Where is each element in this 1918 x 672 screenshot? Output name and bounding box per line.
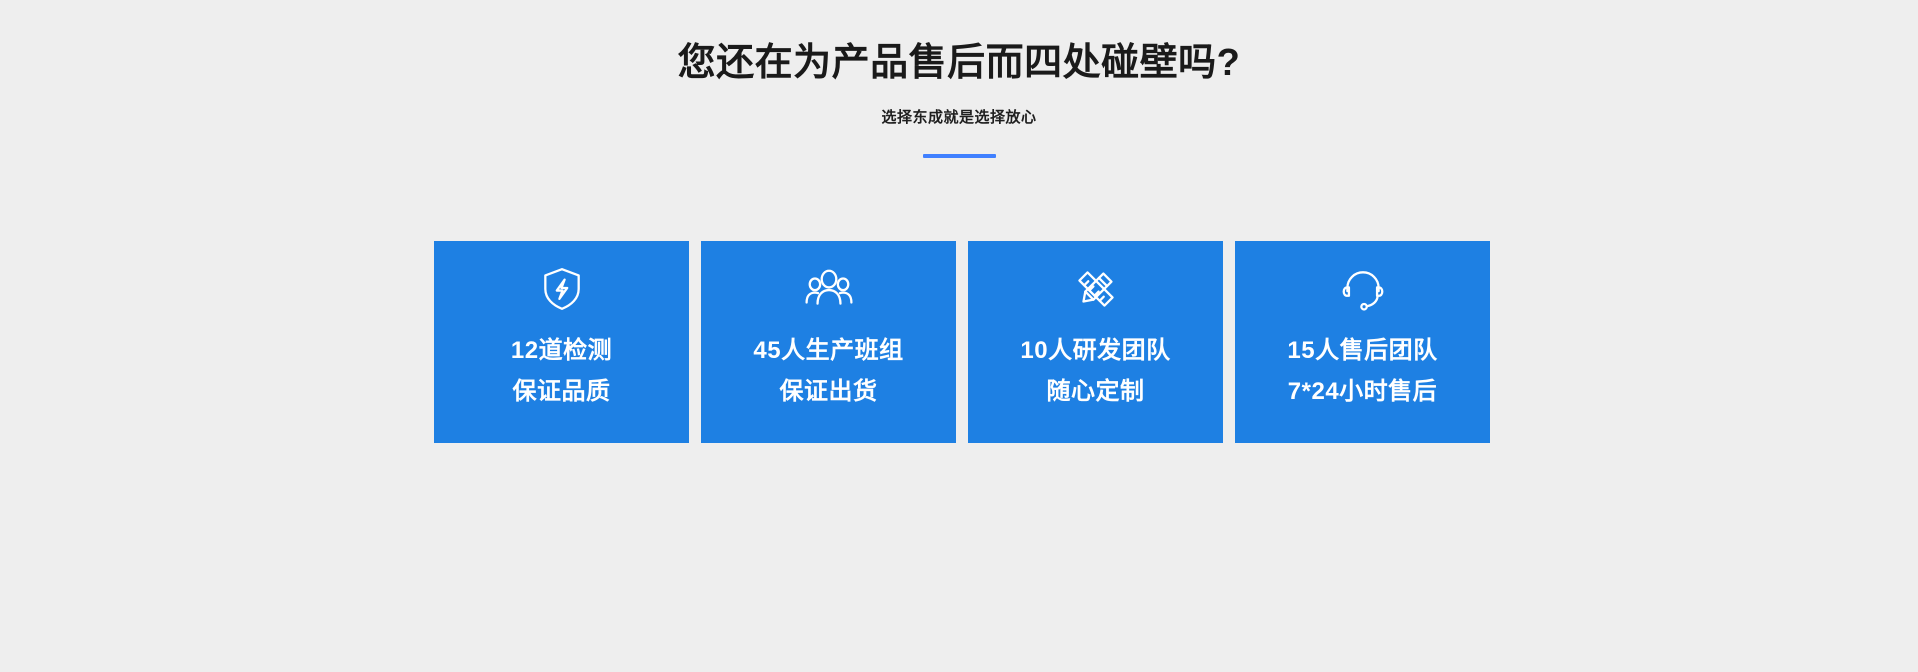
- page-title: 您还在为产品售后而四处碰壁吗?: [0, 0, 1918, 88]
- feature-card-line-2: 保证出货: [753, 374, 903, 410]
- feature-card-line-1: 45人生产班组: [753, 333, 903, 369]
- feature-card-support[interactable]: 15人售后团队 7*24小时售后: [1235, 241, 1490, 443]
- feature-card-text: 45人生产班组 保证出货: [753, 333, 903, 410]
- feature-card-text: 10人研发团队 随心定制: [1020, 333, 1170, 410]
- divider-wrapper: [0, 128, 1918, 158]
- people-group-icon: [801, 261, 857, 317]
- pencil-ruler-icon: [1068, 261, 1124, 317]
- feature-card-line-1: 10人研发团队: [1020, 333, 1170, 369]
- feature-card-text: 15人售后团队 7*24小时售后: [1287, 333, 1437, 410]
- promo-section: 您还在为产品售后而四处碰壁吗? 选择东成就是选择放心 12道检测 保证品质: [0, 0, 1918, 672]
- feature-card-line-1: 12道检测: [511, 333, 612, 369]
- page-subtitle: 选择东成就是选择放心: [0, 88, 1918, 128]
- shield-bolt-icon: [534, 261, 590, 317]
- feature-card-quality[interactable]: 12道检测 保证品质: [434, 241, 689, 443]
- feature-card-text: 12道检测 保证品质: [511, 333, 612, 410]
- feature-card-line-2: 7*24小时售后: [1287, 374, 1437, 410]
- headset-icon: [1335, 261, 1391, 317]
- feature-card-line-1: 15人售后团队: [1287, 333, 1437, 369]
- section-header: 您还在为产品售后而四处碰壁吗? 选择东成就是选择放心: [0, 0, 1918, 158]
- feature-card-line-2: 保证品质: [511, 374, 612, 410]
- feature-card-line-2: 随心定制: [1020, 374, 1170, 410]
- feature-card-rnd[interactable]: 10人研发团队 随心定制: [968, 241, 1223, 443]
- feature-card-production[interactable]: 45人生产班组 保证出货: [701, 241, 956, 443]
- title-divider: [923, 154, 996, 158]
- feature-card-list: 12道检测 保证品质 45人生产班组 保证出货: [434, 241, 1490, 443]
